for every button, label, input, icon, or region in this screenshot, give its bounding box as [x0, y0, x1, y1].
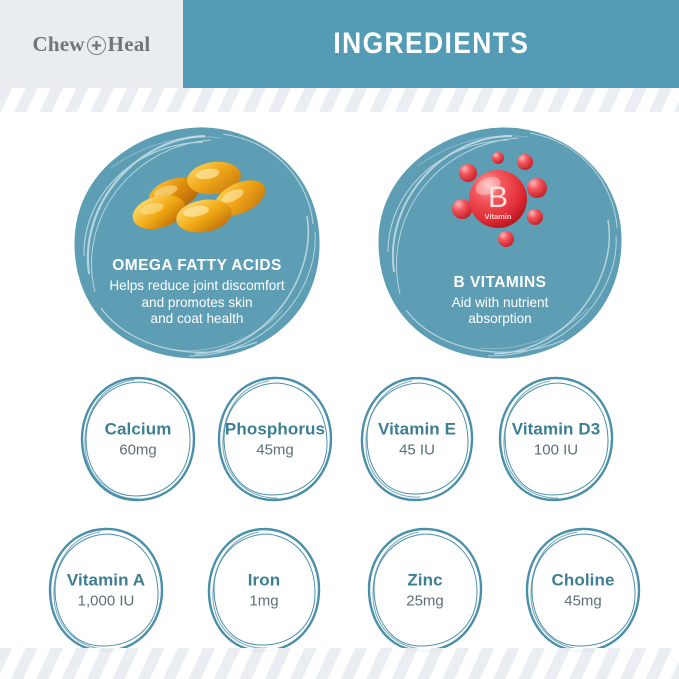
- ingredient-circle-phosphorus: Phosphorus 45mg: [214, 373, 336, 505]
- feature-desc-line: absorption: [396, 311, 604, 328]
- ingredient-text: Iron 1mg: [203, 571, 325, 610]
- brand-logo-panel: Chew Heal: [0, 0, 183, 88]
- feature-desc-line: Helps reduce joint discomfort: [93, 278, 301, 295]
- ingredient-name: Calcium: [81, 420, 195, 440]
- feature-text-omega: OMEGA FATTY ACIDS Helps reduce joint dis…: [71, 257, 323, 328]
- feature-desc-b-vitamins: Aid with nutrient absorption: [396, 295, 604, 328]
- svg-text:B: B: [488, 181, 508, 214]
- bottom-stripe-divider: [0, 648, 679, 679]
- ingredient-circle-vitamin-a: Vitamin A 1,000 IU: [45, 524, 167, 656]
- ingredient-circle-vitamin-d3: Vitamin D3 100 IU: [495, 373, 617, 505]
- ingredient-name: Vitamin A: [49, 571, 163, 591]
- header-title-panel: INGREDIENTS: [183, 0, 679, 88]
- brand-name-left: Chew: [33, 32, 85, 57]
- feature-card-b-vitamins: B Vitamin B VITAMINS Aid with nutrient a…: [374, 124, 626, 362]
- ingredient-name: Zinc: [368, 571, 482, 591]
- page-title: INGREDIENTS: [333, 27, 529, 61]
- brand-name-right: Heal: [108, 32, 151, 57]
- ingredient-amount: 100 IU: [499, 441, 613, 458]
- ingredient-circle-calcium: Calcium 60mg: [77, 373, 199, 505]
- ingredient-text: Vitamin D3 100 IU: [495, 420, 617, 459]
- ingredient-amount: 25mg: [368, 592, 482, 609]
- ingredient-circle-vitamin-e: Vitamin E 45 IU: [356, 373, 478, 505]
- ingredient-amount: 1,000 IU: [49, 592, 163, 609]
- feature-desc-line: Aid with nutrient: [396, 295, 604, 312]
- brand-logo: Chew Heal: [33, 32, 151, 57]
- feature-text-b-vitamins: B VITAMINS Aid with nutrient absorption: [374, 274, 626, 328]
- ingredient-text: Zinc 25mg: [364, 571, 486, 610]
- fish-oil-softgel-capsules-icon: [71, 150, 323, 250]
- feature-title-omega: OMEGA FATTY ACIDS: [93, 257, 301, 274]
- ingredient-text: Vitamin A 1,000 IU: [45, 571, 167, 610]
- vitamin-b-molecule-icon: B Vitamin: [374, 150, 626, 250]
- ingredient-circle-iron: Iron 1mg: [203, 524, 325, 656]
- ingredients-infographic: Chew Heal INGREDIENTS: [0, 0, 679, 679]
- circled-plus-icon: [87, 36, 106, 55]
- header: Chew Heal INGREDIENTS: [0, 0, 679, 88]
- feature-desc-line: and promotes skin: [93, 295, 301, 312]
- ingredient-amount: 60mg: [81, 441, 195, 458]
- ingredient-amount: 1mg: [207, 592, 321, 609]
- ingredient-name: Phosphorus: [218, 420, 332, 440]
- feature-desc-omega: Helps reduce joint discomfort and promot…: [93, 278, 301, 328]
- ingredient-text: Phosphorus 45mg: [214, 420, 336, 459]
- svg-text:Vitamin: Vitamin: [485, 212, 512, 221]
- ingredient-name: Choline: [526, 571, 640, 591]
- ingredient-circle-choline: Choline 45mg: [522, 524, 644, 656]
- ingredient-circle-zinc: Zinc 25mg: [364, 524, 486, 656]
- ingredient-name: Iron: [207, 571, 321, 591]
- feature-title-b-vitamins: B VITAMINS: [396, 274, 604, 291]
- ingredient-text: Vitamin E 45 IU: [356, 420, 478, 459]
- ingredient-text: Choline 45mg: [522, 571, 644, 610]
- top-stripe-divider: [0, 88, 679, 112]
- ingredient-name: Vitamin E: [360, 420, 474, 440]
- ingredient-amount: 45mg: [218, 441, 332, 458]
- ingredient-name: Vitamin D3: [499, 420, 613, 440]
- ingredient-text: Calcium 60mg: [77, 420, 199, 459]
- ingredient-amount: 45mg: [526, 592, 640, 609]
- feature-card-omega-fatty-acids: OMEGA FATTY ACIDS Helps reduce joint dis…: [71, 124, 323, 362]
- ingredient-amount: 45 IU: [360, 441, 474, 458]
- feature-desc-line: and coat health: [93, 311, 301, 328]
